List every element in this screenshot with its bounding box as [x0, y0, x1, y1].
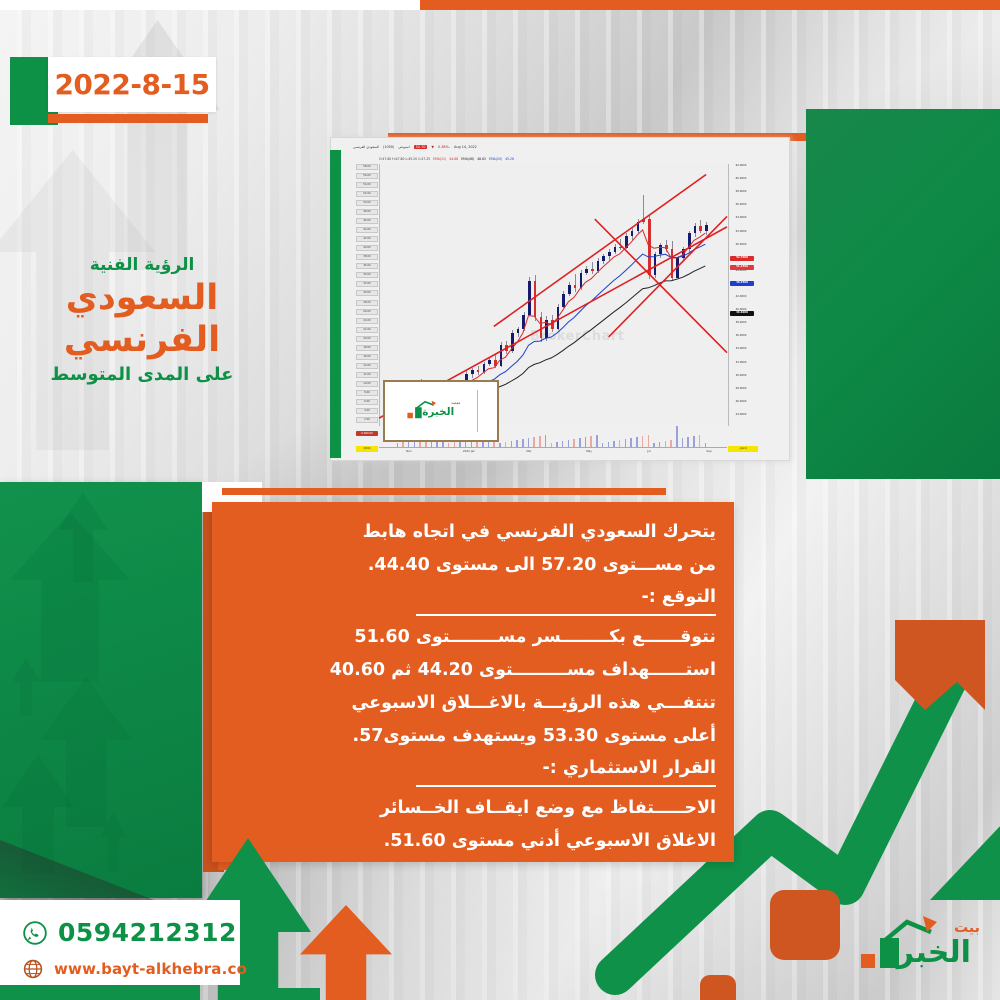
y-axis-tick-right: 54.0000	[730, 216, 752, 220]
contact-phone-row[interactable]: 0594212312	[22, 918, 237, 947]
chart-watermark-divider	[477, 390, 478, 432]
price-badge: 51.2300	[730, 265, 754, 270]
indicator-ema21-value: 44.88	[449, 157, 458, 161]
y-axis-tick-left: 14.00	[356, 363, 378, 369]
brand-name-main: الخبرة	[879, 935, 971, 970]
headline-kicker: الرؤية الفنية	[12, 255, 272, 275]
y-axis-tick-right: 34.0000	[730, 347, 752, 351]
brand-logo-icon: الخبرة بيت	[403, 396, 469, 424]
analysis-text-block: يتحرك السعودي الفرنسي في اتجاه هابط من م…	[212, 502, 734, 862]
x-axis-tick: May	[586, 449, 592, 453]
y-axis-tick-left: 52.00	[356, 191, 378, 197]
y-axis-tick-left: 4.00	[356, 408, 378, 414]
y-axis-tick-left: 10.00	[356, 381, 378, 387]
analysis-intro-line-1: يتحرك السعودي الفرنسي في اتجاه هابط	[240, 516, 716, 549]
y-axis-tick-right: 60.0000	[730, 177, 752, 181]
decorative-arrow-icon	[12, 658, 40, 716]
x-axis-tick: Mar	[526, 449, 531, 453]
decision-line-2: الاغلاق الاسبوعي أدني مستوى 51.60.	[240, 825, 716, 858]
analysis-text-inner: يتحرك السعودي الفرنسي في اتجاه هابط من م…	[240, 516, 716, 858]
y-axis-tick-left: 48.00	[356, 209, 378, 215]
chart-last-price: 52.70	[414, 145, 428, 149]
decision-heading-rule	[416, 785, 716, 787]
svg-text:الخبرة: الخبرة	[422, 406, 454, 418]
y-axis-tick-right: 30.0000	[730, 374, 752, 378]
forecast-line-1: نتوقــــــع بكــــــــسر مســــــــتوى 5…	[240, 621, 716, 654]
chart-x-axis: Nov2022 JanMarMayJulSep	[379, 447, 727, 456]
y-axis-tick-left: 38.00	[356, 254, 378, 260]
decorative-arrow-icon	[10, 512, 130, 682]
chart-corner-yellow-label-right: الاغلاق	[728, 446, 758, 452]
indicator-ema46-name: EMA(46)	[461, 157, 474, 161]
price-badge: 52.7000	[730, 256, 754, 261]
infographic-root: 2022-8-15 الرؤية الفنية السعودي الفرنسي …	[0, 0, 1000, 1000]
indicator-ema46-value: 48.62	[477, 157, 486, 161]
decision-heading: القرار الاستثماري :-	[240, 753, 716, 784]
top-right-green-panel	[806, 109, 1000, 479]
y-axis-tick-left: 18.00	[356, 345, 378, 351]
y-axis-tick-right: 36.0000	[730, 334, 752, 338]
contact-phone-number: 0594212312	[58, 918, 237, 947]
y-axis-tick-right: 52.0000	[730, 230, 752, 234]
date-badge: 2022-8-15	[48, 57, 216, 112]
y-axis-tick-left: 30.00	[356, 290, 378, 296]
chart-logo-watermark-box: الخبرة بيت	[383, 380, 499, 442]
trendline-recent-support	[609, 216, 727, 337]
chart-quote-date: Aug 14, 2022	[454, 145, 477, 149]
y-axis-tick-right: 58.0000	[730, 190, 752, 194]
y-axis-tick-left: 42.00	[356, 236, 378, 242]
headline-group: الرؤية الفنية السعودي الفرنسي على المدى …	[12, 255, 272, 386]
contact-website-row[interactable]: www.bayt-alkhebra.co	[22, 958, 247, 980]
chart-corner-red-label: 0.000.00	[356, 431, 378, 436]
contact-website-url: www.bayt-alkhebra.co	[54, 960, 247, 978]
y-axis-tick-right: 62.0000	[730, 164, 752, 168]
y-axis-tick-left: 32.00	[356, 281, 378, 287]
indicator-ema20-name: EMA(20)	[489, 157, 502, 161]
y-axis-tick-left: 28.00	[356, 300, 378, 306]
date-text: 2022-8-15	[54, 68, 209, 101]
globe-icon	[22, 958, 44, 980]
y-axis-tick-left: 12.00	[356, 372, 378, 378]
svg-text:بيت: بيت	[451, 400, 460, 406]
y-axis-tick-left: 54.00	[356, 182, 378, 188]
indicator-ema20-value: 45.26	[505, 157, 514, 161]
x-axis-tick: Jul	[647, 449, 650, 453]
top-white-strip	[0, 0, 420, 10]
chart-header: السعودي الفرنسي (1050) اسبوعي 52.70 ▼ -0…	[353, 141, 785, 152]
chart-ohlc: O:47.80 H:47.80 L:45.20 C:47.25	[379, 157, 430, 161]
chart-green-side-bar	[330, 150, 341, 458]
whatsapp-icon	[22, 920, 48, 946]
y-axis-tick-left: 20.00	[356, 336, 378, 342]
indicator-ema21-name: EMA(21)	[433, 157, 446, 161]
y-axis-tick-left: 46.00	[356, 218, 378, 224]
x-axis-tick: 2022 Jan	[463, 449, 475, 453]
text-block-top-bar	[222, 488, 666, 495]
chart-interval: (1050)	[383, 145, 394, 149]
chart-corner-yellow-label: (000)	[356, 446, 378, 452]
y-axis-tick-left: 24.00	[356, 318, 378, 324]
y-axis-tick-right: 24.0000	[730, 413, 752, 417]
y-axis-tick-right: 26.0000	[730, 400, 752, 404]
y-axis-tick-left: 16.00	[356, 354, 378, 360]
decorative-orange-square	[700, 975, 736, 1000]
y-axis-tick-right: 28.0000	[730, 387, 752, 391]
x-axis-tick: Nov	[406, 449, 411, 453]
price-badge: 48.4500	[730, 281, 754, 286]
y-axis-tick-left: 2.00	[356, 417, 378, 423]
y-axis-tick-right: 32.0000	[730, 361, 752, 365]
y-axis-tick-right: 56.0000	[730, 203, 752, 207]
y-axis-tick-left: 36.00	[356, 263, 378, 269]
y-axis-tick-right: 42.0000	[730, 295, 752, 299]
chart-symbol: السعودي الفرنسي	[353, 145, 379, 149]
y-axis-tick-left: 50.00	[356, 200, 378, 206]
footer-green-strip	[0, 985, 200, 1000]
x-axis-tick: Sep	[706, 449, 711, 453]
headline-subtitle: على المدى المتوسط	[12, 364, 272, 386]
forecast-line-2: استــــــهداف مســـــــــتوى 44.20 ثم 40…	[240, 654, 716, 687]
chart-indicator-legend: O:47.80 H:47.80 L:45.20 C:47.25 EMA(21) …	[379, 154, 745, 163]
brand-name-prefix: بيت	[954, 920, 980, 936]
forecast-heading: التوقع :-	[240, 582, 716, 613]
y-axis-tick-right: 50.0000	[730, 243, 752, 247]
trendline-rising-channel-upper	[494, 174, 706, 326]
top-orange-bar	[420, 0, 1000, 10]
brand-logo: الخبرة بيت	[855, 910, 985, 980]
y-axis-tick-left: 26.00	[356, 309, 378, 315]
y-axis-tick-left: 6.00	[356, 399, 378, 405]
footer-green-strip-secondary	[240, 988, 320, 1000]
forecast-line-3: تنتفـــي هذه الرؤيـــة بالاغـــلاق الاسب…	[240, 687, 716, 720]
y-axis-tick-left: 22.00	[356, 327, 378, 333]
price-badge: 46.6000	[730, 311, 754, 316]
page-title: السعودي الفرنسي	[12, 277, 272, 361]
chart-timeframe: اسبوعي	[398, 145, 409, 149]
analysis-intro-line-2: من مســـتوى 57.20 الى مستوى 44.40.	[240, 549, 716, 582]
y-axis-tick-left: 56.00	[356, 173, 378, 179]
chart-y-axis-right: 62.000060.000058.000056.000054.000052.00…	[728, 164, 764, 426]
stock-chart-card: السعودي الفرنسي (1050) اسبوعي 52.70 ▼ -0…	[330, 137, 790, 461]
chart-y-axis-left: 58.0056.0054.0052.0050.0048.0046.0044.00…	[356, 164, 378, 426]
y-axis-tick-left: 58.00	[356, 164, 378, 170]
forecast-heading-rule	[416, 614, 716, 616]
y-axis-tick-left: 34.00	[356, 272, 378, 278]
decision-line-1: الاحـــــتفاظ مع وضع ايقــاف الخــسائر	[240, 792, 716, 825]
y-axis-tick-left: 8.00	[356, 390, 378, 396]
left-green-panel	[0, 482, 202, 898]
chart-change-arrow-icon: ▼	[431, 145, 434, 149]
y-axis-tick-left: 40.00	[356, 245, 378, 251]
y-axis-tick-right: 38.0000	[730, 321, 752, 325]
volume-bar	[676, 426, 678, 448]
y-axis-tick-left: 44.00	[356, 227, 378, 233]
trendline-descending-resistance	[595, 219, 727, 353]
chart-change-pct: -0.38%	[438, 145, 450, 149]
date-badge-underline	[48, 114, 208, 123]
decorative-orange-square	[770, 890, 840, 960]
forecast-line-4: أعلى مستوى 53.30 ويستهدف مستوى57.	[240, 720, 716, 753]
